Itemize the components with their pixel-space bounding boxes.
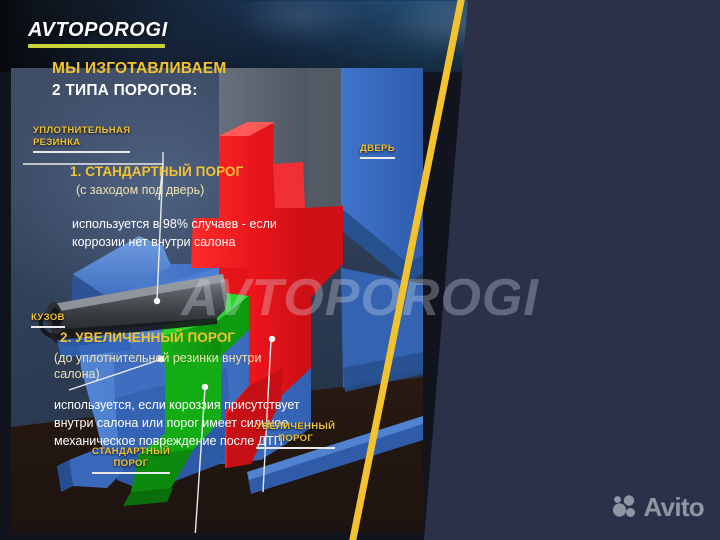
label-extended-rule [256,447,335,449]
brand-logo-underline [28,44,165,48]
label-seal-rule [33,151,130,153]
panel-heading-line1: МЫ ИЗГОТАВЛИВАЕМ [52,61,302,77]
section1-body: используется в 98% случаев - если корроз… [72,215,302,251]
label-extended-sill: УВЕЛИЧЕННЫЙ ПОРОГ [256,421,335,449]
label-door-rule [360,157,395,159]
label-body: КУЗОВ [31,312,65,328]
section1-title: 1. СТАНДАРТНЫЙ ПОРОГ [70,165,243,179]
section2-title: 2. УВЕЛИЧЕННЫЙ ПОРОГ [60,331,235,345]
avito-watermark: Avito [612,494,704,520]
brand-logo-text: AVTOPOROGI [28,20,168,40]
label-door: ДВЕРЬ [360,143,395,159]
right-panel-content: МЫ ИЗГОТАВЛИВАЕМ 2 ТИПА ПОРОГОВ: 1. СТАН… [48,0,296,540]
label-door-text: ДВЕРЬ [360,143,395,154]
poster-canvas: AVTOPOROGI [0,0,720,540]
label-standard-rule [92,472,170,474]
brand-logo: AVTOPOROGI [28,20,168,48]
avito-wordmark: Avito [643,494,704,520]
section1-subtitle: (с заходом под дверь) [76,184,204,197]
right-info-panel [424,0,720,540]
label-standard-line1: СТАНДАРТНЫЙ [92,446,170,457]
label-body-rule [31,326,65,328]
label-body-text: КУЗОВ [31,312,65,323]
label-extended-line2: ПОРОГ [278,433,313,444]
label-extended-line1: УВЕЛИЧЕННЫЙ [256,421,335,432]
label-seal-line2: РЕЗИНКА [33,137,80,148]
label-standard-sill: СТАНДАРТНЫЙ ПОРОГ [92,446,170,474]
panel-heading-line2: 2 ТИПА ПОРОГОВ: [52,83,302,99]
label-seal: УПЛОТНИТЕЛЬНАЯ РЕЗИНКА [33,125,130,153]
avito-dots-icon [612,495,638,519]
section2-subtitle: (до уплотнительной резинки внутри салона… [54,350,304,382]
label-standard-line2: ПОРОГ [114,458,149,469]
label-seal-line1: УПЛОТНИТЕЛЬНАЯ [33,125,130,136]
